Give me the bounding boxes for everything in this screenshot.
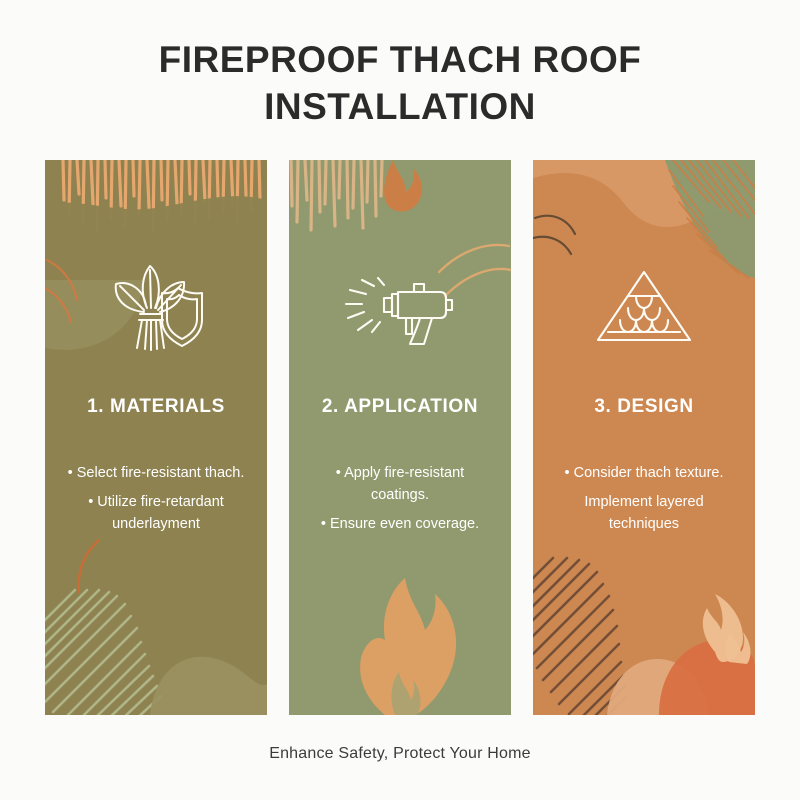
list-item: • Apply fire-resistant coatings. — [303, 462, 497, 506]
step-title-2: 2. APPLICATION — [322, 396, 478, 418]
bullet-marker: • — [68, 465, 73, 481]
step-card-application[interactable]: 2. APPLICATION • Apply fire-resistant co… — [289, 160, 511, 715]
infographic-page: Fireproof Thach Roof Installation — [0, 0, 800, 800]
list-item: • Ensure even coverage. — [303, 513, 497, 535]
card-3-content: 3. DESIGN • Consider thach texture. Impl… — [533, 160, 755, 715]
bullet-text: Consider thach texture. — [574, 465, 724, 481]
bullet-text: Apply fire-resistant coatings. — [344, 465, 464, 503]
list-item: • Consider thach texture. — [547, 462, 741, 484]
page-title: Fireproof Thach Roof Installation — [0, 36, 800, 131]
list-item: • Select fire-resistant thach. — [59, 462, 253, 484]
step-card-design[interactable]: 3. DESIGN • Consider thach texture. Impl… — [533, 160, 755, 715]
bullet-marker: • — [321, 516, 326, 532]
step-title-3: 3. DESIGN — [594, 396, 693, 418]
step-bullets-3: • Consider thach texture. Implement laye… — [547, 462, 741, 542]
list-item: • Utilize fire-retardant underlayment — [59, 491, 253, 535]
card-2-content: 2. APPLICATION • Apply fire-resistant co… — [289, 160, 511, 715]
page-title-line-1: Fireproof Thach Roof — [159, 39, 642, 80]
step-bullets-1: • Select fire-resistant thach. • Utilize… — [59, 462, 253, 542]
step-title-1: 1. MATERIALS — [87, 396, 225, 418]
card-1-content: 1. MATERIALS • Select fire-resistant tha… — [45, 160, 267, 715]
steps-container: 1. MATERIALS • Select fire-resistant tha… — [45, 160, 755, 715]
thatch-bundle-shield-icon — [106, 260, 206, 356]
bullet-text: Select fire-resistant thach. — [77, 465, 245, 481]
bullet-text: Implement layered techniques — [584, 494, 703, 532]
bullet-marker: • — [336, 465, 341, 481]
bullet-marker: • — [88, 494, 93, 510]
bullet-text: Ensure even coverage. — [330, 516, 479, 532]
spray-gun-icon — [344, 260, 456, 356]
layered-roof-icon — [592, 260, 696, 356]
bullet-text: Utilize fire-retardant underlayment — [97, 494, 224, 532]
page-title-line-2: Installation — [0, 83, 800, 130]
bullet-marker: • — [564, 465, 569, 481]
footer-tagline: Enhance Safety, Protect Your Home — [0, 745, 800, 763]
step-card-materials[interactable]: 1. MATERIALS • Select fire-resistant tha… — [45, 160, 267, 715]
list-item: Implement layered techniques — [547, 491, 741, 535]
step-bullets-2: • Apply fire-resistant coatings. • Ensur… — [303, 462, 497, 542]
